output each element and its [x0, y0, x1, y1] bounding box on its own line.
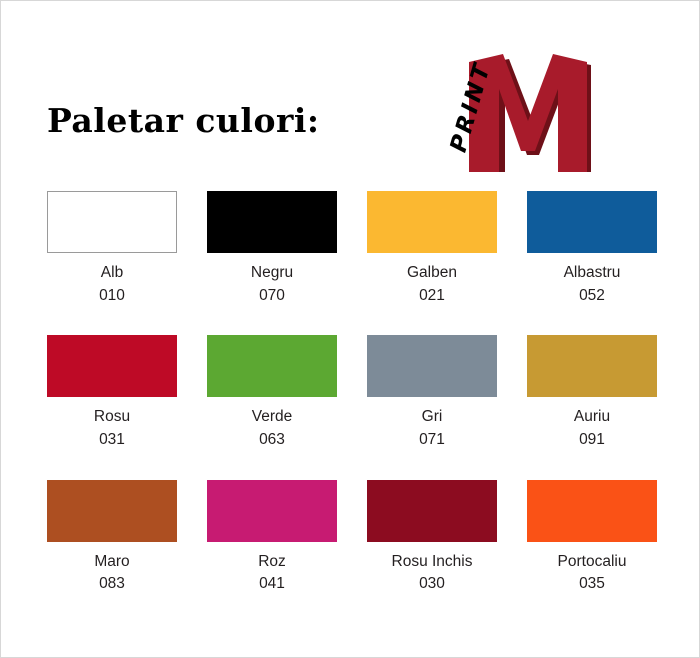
swatch-name: Gri [367, 406, 497, 429]
swatch-code: 041 [207, 573, 337, 596]
swatch-caption: Galben 021 [367, 262, 497, 307]
header: Paletar culori: PRINT [1, 29, 700, 179]
swatch-chip-auriu[interactable] [527, 335, 657, 397]
swatch-item[interactable]: Albastru 052 [527, 191, 657, 307]
swatch-item[interactable]: Portocaliu 035 [527, 480, 657, 596]
swatch-code: 063 [207, 429, 337, 452]
swatch-chip-rosu-inchis[interactable] [367, 480, 497, 542]
swatch-item[interactable]: Galben 021 [367, 191, 497, 307]
swatch-name: Alb [47, 262, 177, 285]
swatch-item[interactable]: Auriu 091 [527, 335, 657, 451]
swatch-chip-negru[interactable] [207, 191, 337, 253]
swatch-chip-verde[interactable] [207, 335, 337, 397]
m-print-logo: PRINT [421, 29, 596, 179]
swatch-name: Auriu [527, 406, 657, 429]
swatch-code: 052 [527, 285, 657, 308]
swatch-name: Rosu [47, 406, 177, 429]
swatch-chip-galben[interactable] [367, 191, 497, 253]
swatch-item[interactable]: Verde 063 [207, 335, 337, 451]
swatch-name: Negru [207, 262, 337, 285]
swatch-chip-maro[interactable] [47, 480, 177, 542]
swatch-item[interactable]: Maro 083 [47, 480, 177, 596]
swatch-code: 031 [47, 429, 177, 452]
swatch-caption: Verde 063 [207, 406, 337, 451]
swatch-code: 035 [527, 573, 657, 596]
swatch-caption: Negru 070 [207, 262, 337, 307]
swatch-name: Galben [367, 262, 497, 285]
swatch-item[interactable]: Negru 070 [207, 191, 337, 307]
color-palette-page: Paletar culori: PRINT Alb 010 Negru 070 [0, 0, 700, 658]
swatch-item[interactable]: Alb 010 [47, 191, 177, 307]
swatch-code: 070 [207, 285, 337, 308]
swatch-code: 083 [47, 573, 177, 596]
swatch-item[interactable]: Gri 071 [367, 335, 497, 451]
swatch-code: 030 [367, 573, 497, 596]
swatch-caption: Roz 041 [207, 551, 337, 596]
swatch-chip-gri[interactable] [367, 335, 497, 397]
swatch-caption: Rosu Inchis 030 [367, 551, 497, 596]
swatch-chip-alb[interactable] [47, 191, 177, 253]
swatch-name: Roz [207, 551, 337, 574]
swatch-caption: Portocaliu 035 [527, 551, 657, 596]
swatch-caption: Rosu 031 [47, 406, 177, 451]
swatch-item[interactable]: Rosu Inchis 030 [367, 480, 497, 596]
swatch-caption: Alb 010 [47, 262, 177, 307]
swatch-chip-portocaliu[interactable] [527, 480, 657, 542]
swatch-name: Rosu Inchis [367, 551, 497, 574]
swatch-chip-rosu[interactable] [47, 335, 177, 397]
swatch-name: Portocaliu [527, 551, 657, 574]
swatch-code: 091 [527, 429, 657, 452]
swatch-name: Verde [207, 406, 337, 429]
swatch-name: Albastru [527, 262, 657, 285]
swatch-code: 010 [47, 285, 177, 308]
swatch-chip-roz[interactable] [207, 480, 337, 542]
swatch-item[interactable]: Rosu 031 [47, 335, 177, 451]
swatch-caption: Auriu 091 [527, 406, 657, 451]
swatch-caption: Gri 071 [367, 406, 497, 451]
page-title: Paletar culori: [47, 101, 320, 140]
swatch-grid: Alb 010 Negru 070 Galben 021 Albastru 05… [47, 191, 659, 596]
swatch-chip-albastru[interactable] [527, 191, 657, 253]
swatch-name: Maro [47, 551, 177, 574]
swatch-code: 021 [367, 285, 497, 308]
swatch-code: 071 [367, 429, 497, 452]
swatch-item[interactable]: Roz 041 [207, 480, 337, 596]
swatch-caption: Albastru 052 [527, 262, 657, 307]
swatch-caption: Maro 083 [47, 551, 177, 596]
